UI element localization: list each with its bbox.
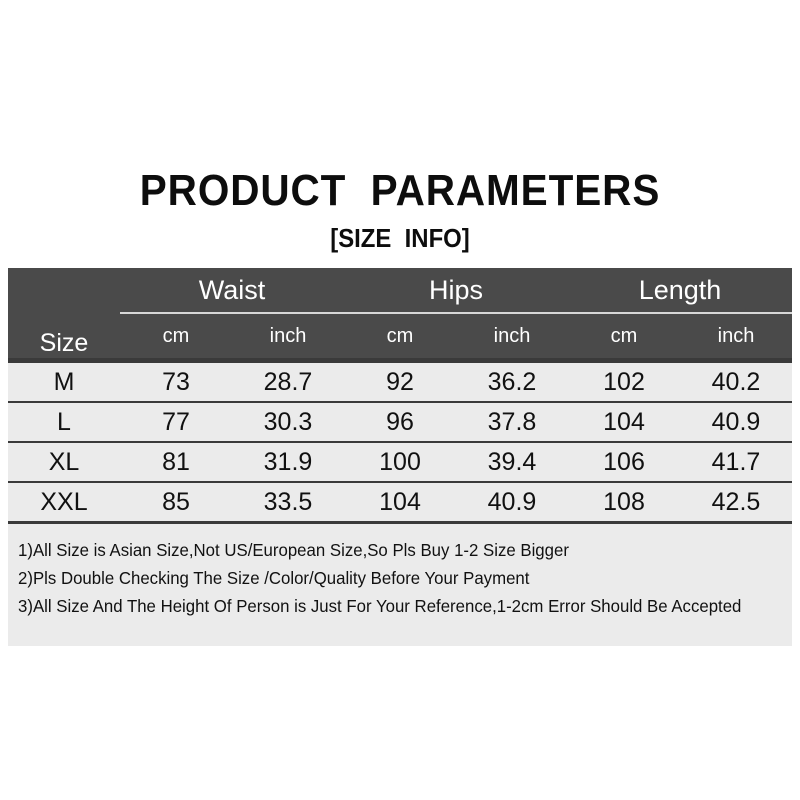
cell-length-cm: 108 (568, 482, 680, 521)
cell-hips-inch: 40.9 (456, 482, 568, 521)
cell-waist-inch: 33.5 (232, 482, 344, 521)
cell-waist-cm: 77 (120, 402, 232, 442)
cell-length-cm: 104 (568, 402, 680, 442)
note-line: 3)All Size And The Height Of Person is J… (18, 592, 761, 620)
cell-hips-cm: 96 (344, 402, 456, 442)
cell-length-inch: 40.2 (680, 361, 792, 403)
header-group-waist: Waist (120, 268, 344, 313)
cell-waist-inch: 30.3 (232, 402, 344, 442)
cell-size: XXL (8, 482, 120, 521)
cell-length-inch: 42.5 (680, 482, 792, 521)
cell-size: XL (8, 442, 120, 482)
cell-hips-inch: 39.4 (456, 442, 568, 482)
table-group-header-row: Size Waist Hips Length (8, 268, 792, 313)
page-title: PRODUCT PARAMETERS (32, 166, 768, 216)
size-table-head: Size Waist Hips Length cm inch cm inch c… (8, 268, 792, 361)
table-row: XXL 85 33.5 104 40.9 108 42.5 (8, 482, 792, 521)
cell-size: M (8, 361, 120, 403)
note-line: 2)Pls Double Checking The Size /Color/Qu… (18, 564, 761, 592)
cell-length-cm: 102 (568, 361, 680, 403)
page-subtitle: [SIZE INFO] (32, 222, 768, 254)
cell-waist-cm: 73 (120, 361, 232, 403)
size-table-body: M 73 28.7 92 36.2 102 40.2 L 77 30.3 96 … (8, 361, 792, 522)
table-row: L 77 30.3 96 37.8 104 40.9 (8, 402, 792, 442)
header-group-length: Length (568, 268, 792, 313)
header-length-cm: cm (568, 313, 680, 361)
cell-size: L (8, 402, 120, 442)
header-waist-inch: inch (232, 313, 344, 361)
cell-length-inch: 41.7 (680, 442, 792, 482)
header-size: Size (8, 268, 120, 361)
size-table: Size Waist Hips Length cm inch cm inch c… (8, 268, 792, 521)
cell-hips-cm: 104 (344, 482, 456, 521)
cell-waist-inch: 28.7 (232, 361, 344, 403)
cell-hips-inch: 36.2 (456, 361, 568, 403)
cell-hips-cm: 92 (344, 361, 456, 403)
size-chart-page: PRODUCT PARAMETERS [SIZE INFO] Size Wais… (0, 0, 800, 800)
notes-section: 1)All Size is Asian Size,Not US/European… (8, 524, 792, 646)
header-hips-cm: cm (344, 313, 456, 361)
header-length-inch: inch (680, 313, 792, 361)
cell-waist-cm: 85 (120, 482, 232, 521)
cell-waist-inch: 31.9 (232, 442, 344, 482)
table-row: M 73 28.7 92 36.2 102 40.2 (8, 361, 792, 403)
header-hips-inch: inch (456, 313, 568, 361)
table-unit-header-row: cm inch cm inch cm inch (8, 313, 792, 361)
size-table-panel: Size Waist Hips Length cm inch cm inch c… (8, 268, 792, 646)
note-line: 1)All Size is Asian Size,Not US/European… (18, 536, 761, 564)
header-waist-cm: cm (120, 313, 232, 361)
cell-waist-cm: 81 (120, 442, 232, 482)
cell-hips-inch: 37.8 (456, 402, 568, 442)
cell-hips-cm: 100 (344, 442, 456, 482)
cell-length-cm: 106 (568, 442, 680, 482)
cell-length-inch: 40.9 (680, 402, 792, 442)
table-row: XL 81 31.9 100 39.4 106 41.7 (8, 442, 792, 482)
header-group-hips: Hips (344, 268, 568, 313)
